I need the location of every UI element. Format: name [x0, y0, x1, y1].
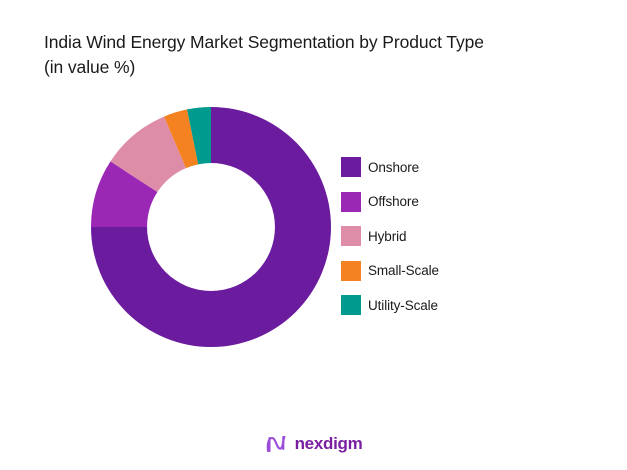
donut-chart-svg: [85, 101, 337, 353]
legend-item-onshore[interactable]: Onshore: [341, 150, 521, 185]
legend-item-hybrid[interactable]: Hybrid: [341, 219, 521, 254]
brand-name: nexdigm: [295, 434, 363, 454]
page-title: India Wind Energy Market Segmentation by…: [44, 30, 594, 80]
donut-slice-group: [91, 107, 331, 347]
legend-label-utility-scale: Utility-Scale: [368, 298, 438, 313]
legend-label-hybrid: Hybrid: [368, 229, 406, 244]
legend-swatch-small-scale: [341, 261, 361, 281]
legend-label-offshore: Offshore: [368, 194, 419, 209]
legend-item-utility-scale[interactable]: Utility-Scale: [341, 288, 521, 323]
brand-logo: nexdigm: [0, 434, 627, 454]
legend-item-offshore[interactable]: Offshore: [341, 185, 521, 220]
legend-label-onshore: Onshore: [368, 160, 419, 175]
legend-label-small-scale: Small-Scale: [368, 263, 439, 278]
legend-swatch-utility-scale: [341, 295, 361, 315]
chart-legend: Onshore Offshore Hybrid Small-Scale Util…: [341, 150, 521, 323]
legend-swatch-hybrid: [341, 226, 361, 246]
donut-chart: [85, 101, 337, 353]
title-line-2: (in value %): [44, 55, 594, 80]
legend-swatch-onshore: [341, 157, 361, 177]
title-line-1: India Wind Energy Market Segmentation by…: [44, 30, 594, 55]
legend-item-small-scale[interactable]: Small-Scale: [341, 254, 521, 289]
legend-swatch-offshore: [341, 192, 361, 212]
chart-page: India Wind Energy Market Segmentation by…: [0, 0, 627, 470]
wave-n-icon: [265, 434, 288, 454]
